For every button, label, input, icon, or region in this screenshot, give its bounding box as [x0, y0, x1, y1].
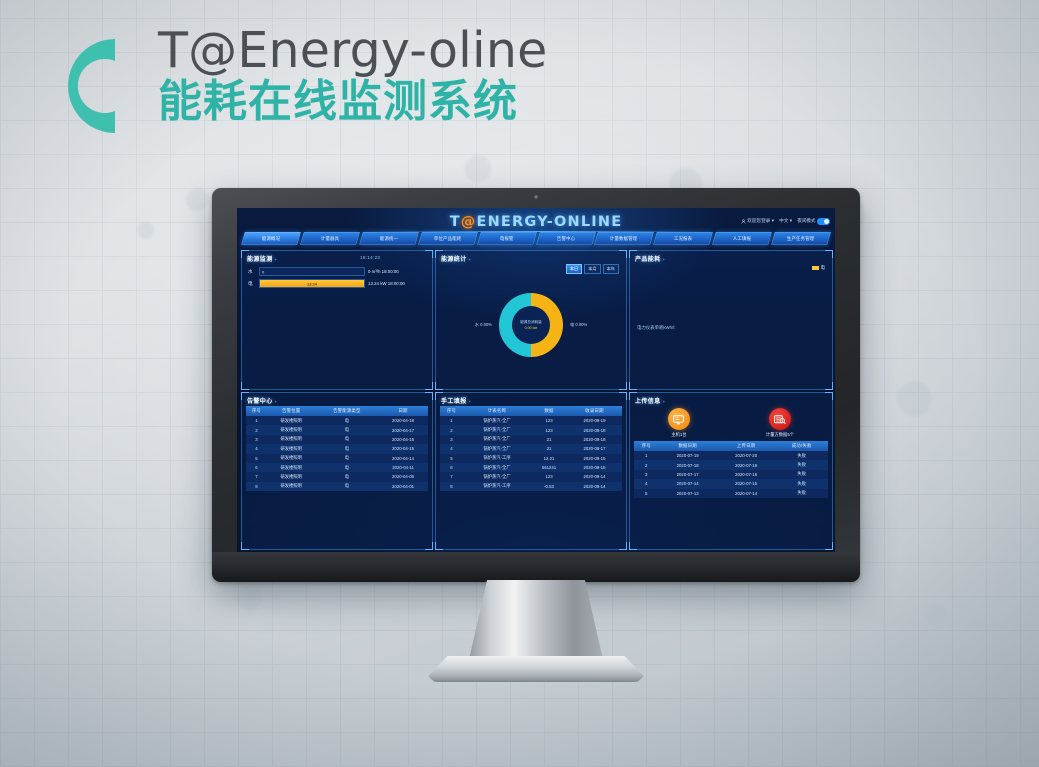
- monitor-stand-neck: [468, 580, 604, 664]
- table-row[interactable]: 8研发楼照明电2020-04-01: [246, 482, 428, 491]
- panel-corner: [619, 250, 627, 258]
- table-row[interactable]: 6锅炉蒸汽-全厂5612412020-08-15: [440, 463, 622, 472]
- table-cell: 8: [246, 482, 267, 491]
- table-row[interactable]: 42020-07-142020-07-15失败: [634, 479, 828, 488]
- monitor-bezel: T@ENERGY-ONLINE 欢迎您登录 ▾ 中文 ▾: [212, 188, 860, 582]
- table-cell: -0.53: [531, 482, 567, 491]
- brand-block: T@Energy-oline 能耗在线监测系统: [55, 24, 595, 149]
- table-row[interactable]: 6研发楼照明电2020-04-11: [246, 463, 428, 472]
- nav-item-label: 电报警: [500, 236, 514, 242]
- dashboard: T@ENERGY-ONLINE 欢迎您登录 ▾ 中文 ▾: [237, 208, 835, 552]
- brand-english-title: T@Energy-oline: [158, 24, 547, 78]
- table-cell: 锅炉蒸汽-全厂: [463, 444, 531, 453]
- table-cell: 2020-04-15: [378, 444, 428, 453]
- dashboard-header: T@ENERGY-ONLINE 欢迎您登录 ▾ 中文 ▾: [237, 212, 835, 229]
- table-row[interactable]: 3锅炉蒸汽-全厂212020-08-18: [440, 435, 622, 444]
- table-cell: 电: [316, 425, 379, 434]
- legend-label: 电: [821, 265, 825, 271]
- table-row[interactable]: 4研发楼照明电2020-04-15: [246, 444, 428, 453]
- table-cell: 失败: [775, 489, 828, 498]
- table-cell: 2020-07-13: [658, 489, 716, 498]
- nav-item-label: 告警中心: [556, 236, 574, 242]
- table-cell: 3: [246, 435, 267, 444]
- theme-toggle-switch[interactable]: [817, 218, 830, 225]
- column-header: 序号: [246, 406, 267, 416]
- chevron-down-icon: ▾: [790, 218, 792, 224]
- panel-corner: [435, 382, 443, 390]
- column-header: 数据: [531, 406, 567, 416]
- table-cell: 2020-08-15: [567, 454, 622, 463]
- table-row[interactable]: 7锅炉蒸汽-全厂1232020-08-14: [440, 472, 622, 481]
- period-tab-1[interactable]: 本日: [566, 264, 582, 274]
- panel-product-energy: 产品能耗+ 电 电力仪表单耗kWh/t: [629, 250, 833, 390]
- table-cell: 2020-08-18: [567, 435, 622, 444]
- panel-corner: [425, 392, 433, 400]
- energy-row-bar: 0: [259, 267, 365, 276]
- theme-toggle-label: 夜间模式: [797, 218, 815, 224]
- document-search-icon: [769, 408, 791, 430]
- table-cell: 研发楼照明: [267, 425, 316, 434]
- table-row[interactable]: 4锅炉蒸汽-全厂212020-08-17: [440, 444, 622, 453]
- webcam-icon: [534, 195, 539, 200]
- toggle-knob: [824, 219, 829, 224]
- table-row[interactable]: 1研发楼照明电2020-04-18: [246, 416, 428, 425]
- nav-item-4[interactable]: 单位产品能耗: [418, 232, 478, 245]
- app-logo-at-icon: @: [461, 214, 477, 230]
- monitor-host-icon: [668, 408, 690, 430]
- table-cell: 2020-07-18: [717, 470, 775, 479]
- table-cell: 2020-04-17: [378, 425, 428, 434]
- upload-stat-data[interactable]: 计量方数据5个: [766, 408, 794, 438]
- table-cell: 7: [246, 472, 267, 481]
- table-row[interactable]: 32020-07-172020-07-18失败: [634, 470, 828, 479]
- table-cell: 锅炉蒸汽-全厂: [463, 416, 531, 425]
- panel-title-text: 告警中心: [247, 399, 273, 405]
- alarm-center-table: 序号告警位置告警能源类型日期1研发楼照明电2020-04-182研发楼照明电20…: [246, 406, 428, 491]
- nav-item-label: 人工填报: [733, 236, 751, 242]
- panel-manual-entry: 手工填报+ 序号计表名称数据收录日期1锅炉蒸汽-全厂1232020-08-192…: [435, 392, 627, 550]
- nav-item-9[interactable]: 人工填报: [712, 232, 772, 245]
- column-header: 上传日期: [717, 441, 775, 451]
- nav-item-5[interactable]: 电报警: [477, 232, 537, 245]
- panel-corner: [629, 382, 637, 390]
- column-header: 成功/失败: [775, 441, 828, 451]
- person-icon: [741, 219, 746, 224]
- table-cell: 2020-07-18: [658, 460, 716, 469]
- table-cell: 锅炉蒸汽-全厂: [463, 472, 531, 481]
- table-row[interactable]: 52020-07-132020-07-14失败: [634, 489, 828, 498]
- table-cell: 2020-08-14: [567, 482, 622, 491]
- panel-title-text: 能源统计: [441, 257, 467, 263]
- nav-item-label: 计量数据管理: [611, 236, 639, 242]
- nav-item-label: 能源统一: [380, 236, 398, 242]
- table-cell: 2020-04-11: [378, 463, 428, 472]
- table-cell: 电: [316, 482, 379, 491]
- table-cell: 锅炉蒸汽-全厂: [463, 425, 531, 434]
- table-row[interactable]: 8锅炉蒸汽-工序-0.532020-08-14: [440, 482, 622, 491]
- panel-corner: [619, 392, 627, 400]
- table-cell: 2020-08-15: [567, 463, 622, 472]
- panel-title-alarm-center: 告警中心+: [247, 396, 277, 405]
- table-cell: 123: [531, 425, 567, 434]
- energy-monitor-time: 18:14:23: [360, 255, 380, 260]
- panel-corner: [825, 250, 833, 258]
- table-cell: 2: [246, 425, 267, 434]
- nav-item-8[interactable]: 工况报表: [653, 232, 713, 245]
- table-cell: 电: [316, 416, 379, 425]
- panel-title-text: 上传信息: [635, 399, 661, 405]
- user-label: 欢迎您登录: [747, 218, 770, 224]
- nav-item-10[interactable]: 生产任务管理: [771, 232, 831, 245]
- upload-stat-host[interactable]: 主机1台: [668, 408, 690, 438]
- table-cell: 2020-07-20: [717, 451, 775, 460]
- column-header: 序号: [440, 406, 463, 416]
- table-row[interactable]: 2锅炉蒸汽-全厂1232020-08-18: [440, 425, 622, 434]
- upload-stat-icons: 主机1台 计量方数据5个: [630, 408, 832, 438]
- column-header: 序号: [634, 441, 658, 451]
- column-header: 收录日期: [567, 406, 622, 416]
- column-header: 计表名称: [463, 406, 531, 416]
- column-header: 日期: [378, 406, 428, 416]
- donut-center: 能源总消耗量 0.00 tce: [512, 306, 550, 344]
- table-cell: 2020-08-18: [567, 425, 622, 434]
- table-cell: 电: [316, 444, 379, 453]
- panel-title-energy-monitor: 能源监测+: [247, 254, 277, 263]
- table-cell: 8: [440, 482, 463, 491]
- energy-row-bar-value: 13.24: [307, 281, 317, 286]
- table-cell: 561241: [531, 463, 567, 472]
- panel-title-upload-info: 上传信息+: [635, 396, 665, 405]
- table-row[interactable]: 12020-07-192020-07-20失败: [634, 451, 828, 460]
- panel-expand-icon[interactable]: +: [275, 399, 278, 404]
- monitor: T@ENERGY-ONLINE 欢迎您登录 ▾ 中文 ▾: [212, 188, 860, 688]
- brand-text: T@Energy-oline 能耗在线监测系统: [158, 24, 547, 126]
- nav-item-7[interactable]: 计量数据管理: [595, 232, 655, 245]
- upload-stat-host-caption: 主机1台: [671, 432, 686, 438]
- table-cell: 研发楼照明: [267, 416, 316, 425]
- brand-chinese-title: 能耗在线监测系统: [158, 77, 547, 126]
- panel-title-energy-stats: 能源统计+: [441, 254, 471, 263]
- table-cell: 2020-07-19: [658, 451, 716, 460]
- app-logo: T@ENERGY-ONLINE: [450, 214, 623, 230]
- panel-expand-icon[interactable]: +: [663, 399, 666, 404]
- table-cell: 123: [531, 472, 567, 481]
- table-cell: 1: [246, 416, 267, 425]
- table-cell: 2020-04-18: [378, 416, 428, 425]
- table-cell: 2020-07-15: [717, 479, 775, 488]
- table-row[interactable]: 1锅炉蒸汽-全厂1232020-08-19: [440, 416, 622, 425]
- table-cell: 失败: [775, 451, 828, 460]
- table-cell: 2: [440, 425, 463, 434]
- nav-item-label: 能源概况: [262, 236, 280, 242]
- table-cell: 研发楼照明: [267, 472, 316, 481]
- period-tab-3[interactable]: 本年: [603, 264, 619, 274]
- table-cell: 2020-04-05: [378, 472, 428, 481]
- energy-row-1: 水00 m³/h 18:00:00: [248, 267, 426, 276]
- period-tab-2[interactable]: 本月: [584, 264, 600, 274]
- table-cell: 4: [440, 444, 463, 453]
- column-header: 告警位置: [267, 406, 316, 416]
- table-cell: 3: [440, 435, 463, 444]
- panel-energy-stats: 能源统计+ 本日本月本年 能源总消耗量 0.00 tce 水 0.00% 电 0…: [435, 250, 627, 390]
- panel-upload-info: 上传信息+ 主机1台 计量方数据5个: [629, 392, 833, 550]
- table-cell: 电: [316, 435, 379, 444]
- panel-title-manual-entry: 手工填报+: [441, 396, 471, 405]
- main-nav: 能源概况计量器具能源统一单位产品能耗电报警告警中心计量数据管理工况报表人工填报生…: [243, 232, 829, 245]
- table-cell: 电: [316, 463, 379, 472]
- table-cell: 研发楼照明: [267, 454, 316, 463]
- upload-stat-data-caption: 计量方数据5个: [766, 432, 794, 438]
- language-label: 中文: [779, 218, 788, 224]
- energy-row-2: 电13.2413.24 kW 18:00:00: [248, 279, 426, 288]
- energy-row-bar: 13.24: [259, 279, 365, 288]
- nav-item-label: 计量器具: [321, 236, 339, 242]
- table-cell: 失败: [775, 470, 828, 479]
- table-cell: 7: [440, 472, 463, 481]
- panel-title-product-energy: 产品能耗+: [635, 254, 665, 263]
- table-row[interactable]: 5研发楼照明电2020-04-14: [246, 454, 428, 463]
- donut-label-water: 水 0.00%: [475, 322, 499, 328]
- monitor-bezel-bottom: [212, 552, 860, 582]
- table-cell: 失败: [775, 479, 828, 488]
- nav-item-2[interactable]: 计量器具: [300, 232, 360, 245]
- energy-donut-chart: 能源总消耗量 0.00 tce 水 0.00% 电 0.00%: [499, 293, 563, 357]
- table-cell: 电: [316, 472, 379, 481]
- table-row[interactable]: 22020-07-182020-07-19失败: [634, 460, 828, 469]
- energy-stats-period-tabs: 本日本月本年: [566, 264, 619, 274]
- table-header-row: 序号计表名称数据收录日期: [440, 406, 622, 416]
- table-cell: 2020-04-01: [378, 482, 428, 491]
- table-cell: 4: [634, 479, 658, 488]
- monitor-screen: T@ENERGY-ONLINE 欢迎您登录 ▾ 中文 ▾: [237, 208, 835, 552]
- table-cell: 21: [531, 435, 567, 444]
- energy-row-label: 水: [248, 269, 256, 275]
- table-row[interactable]: 3研发楼照明电2020-04-16: [246, 435, 428, 444]
- table-cell: 2020-08-17: [567, 444, 622, 453]
- panel-expand-icon[interactable]: +: [275, 257, 278, 262]
- panel-corner: [241, 382, 249, 390]
- user-menu[interactable]: 欢迎您登录 ▾: [741, 218, 774, 224]
- panel-corner: [629, 542, 637, 550]
- table-cell: 研发楼照明: [267, 444, 316, 453]
- legend-swatch-icon: [812, 266, 819, 270]
- column-header: 告警能源类型: [316, 406, 379, 416]
- table-cell: 2020-07-14: [717, 489, 775, 498]
- nav-item-6[interactable]: 告警中心: [536, 232, 596, 245]
- nav-item-label: 生产任务管理: [787, 236, 815, 242]
- table-cell: 2020-07-19: [717, 460, 775, 469]
- table-cell: 5: [246, 454, 267, 463]
- table-cell: 1: [440, 416, 463, 425]
- panel-corner: [425, 250, 433, 258]
- nav-item-1[interactable]: 能源概况: [241, 232, 301, 245]
- table-cell: 5: [634, 489, 658, 498]
- table-cell: 4: [246, 444, 267, 453]
- donut-center-label: 能源总消耗量: [520, 320, 542, 325]
- table-cell: 研发楼照明: [267, 435, 316, 444]
- panel-corner: [825, 392, 833, 400]
- panel-expand-icon[interactable]: +: [469, 257, 472, 262]
- table-row[interactable]: 7研发楼照明电2020-04-05: [246, 472, 428, 481]
- donut-center-value: 0.00 tce: [525, 326, 538, 330]
- table-cell: 失败: [775, 460, 828, 469]
- upload-info-table: 序号数据日期上传日期成功/失败12020-07-192020-07-20失败22…: [634, 441, 828, 498]
- monitor-stand-base: [428, 656, 644, 682]
- manual-entry-table: 序号计表名称数据收录日期1锅炉蒸汽-全厂1232020-08-192锅炉蒸汽-全…: [440, 406, 622, 491]
- nav-item-3[interactable]: 能源统一: [359, 232, 419, 245]
- panel-energy-monitor: 能源监测+ 18:14:23 水00 m³/h 18:00:00电13.2413…: [241, 250, 433, 390]
- table-cell: 6: [246, 463, 267, 472]
- panel-title-text: 产品能耗: [635, 257, 661, 263]
- table-cell: 12.21: [531, 454, 567, 463]
- table-row[interactable]: 2研发楼照明电2020-04-17: [246, 425, 428, 434]
- table-cell: 2020-07-17: [658, 470, 716, 479]
- nav-item-label: 工况报表: [674, 236, 692, 242]
- c-arc-logo-icon: [55, 27, 121, 145]
- panel-alarm-center: 告警中心+ 序号告警位置告警能源类型日期1研发楼照明电2020-04-182研发…: [241, 392, 433, 550]
- table-cell: 2020-07-14: [658, 479, 716, 488]
- table-cell: 2020-04-16: [378, 435, 428, 444]
- panel-corner: [435, 542, 443, 550]
- table-cell: 123: [531, 416, 567, 425]
- theme-toggle-group[interactable]: 夜间模式: [797, 218, 830, 225]
- column-header: 数据日期: [658, 441, 716, 451]
- energy-row-reading: 0 m³/h 18:00:00: [368, 269, 426, 274]
- panel-expand-icon[interactable]: +: [469, 399, 472, 404]
- table-cell: 1: [634, 451, 658, 460]
- table-cell: 2: [634, 460, 658, 469]
- language-menu[interactable]: 中文 ▾: [779, 218, 792, 224]
- product-energy-axis-note: 电力仪表单耗kWh/t: [637, 325, 675, 331]
- panel-title-text: 能源监测: [247, 257, 273, 263]
- table-cell: 2020-08-19: [567, 416, 622, 425]
- table-cell: 5: [440, 454, 463, 463]
- table-cell: 锅炉蒸汽-全厂: [463, 463, 531, 472]
- table-cell: 锅炉蒸汽-工序: [463, 482, 531, 491]
- panel-corner: [241, 542, 249, 550]
- table-cell: 锅炉蒸汽-全厂: [463, 435, 531, 444]
- app-logo-prefix: T: [450, 214, 461, 230]
- table-cell: 电: [316, 454, 379, 463]
- table-row[interactable]: 5锅炉蒸汽-工序12.212020-08-15: [440, 454, 622, 463]
- table-cell: 2020-04-14: [378, 454, 428, 463]
- table-cell: 6: [440, 463, 463, 472]
- table-cell: 研发楼照明: [267, 482, 316, 491]
- energy-row-zero-value: 0: [262, 269, 264, 274]
- table-cell: 21: [531, 444, 567, 453]
- energy-row-reading: 13.24 kW 18:00:00: [368, 281, 426, 286]
- table-header-row: 序号告警位置告警能源类型日期: [246, 406, 428, 416]
- app-logo-suffix: ENERGY-ONLINE: [476, 214, 622, 230]
- product-energy-legend: 电: [812, 265, 825, 271]
- table-header-row: 序号数据日期上传日期成功/失败: [634, 441, 828, 451]
- table-cell: 2020-08-14: [567, 472, 622, 481]
- table-cell: 研发楼照明: [267, 463, 316, 472]
- donut-label-electric: 电 0.00%: [563, 322, 587, 328]
- header-right-tools: 欢迎您登录 ▾ 中文 ▾ 夜间模式: [741, 218, 830, 225]
- table-cell: 锅炉蒸汽-工序: [463, 454, 531, 463]
- panel-title-text: 手工填报: [441, 399, 467, 405]
- panel-expand-icon[interactable]: +: [663, 257, 666, 262]
- table-cell: 3: [634, 470, 658, 479]
- nav-item-label: 单位产品能耗: [434, 236, 462, 242]
- energy-row-label: 电: [248, 281, 256, 287]
- chevron-down-icon: ▾: [772, 218, 774, 224]
